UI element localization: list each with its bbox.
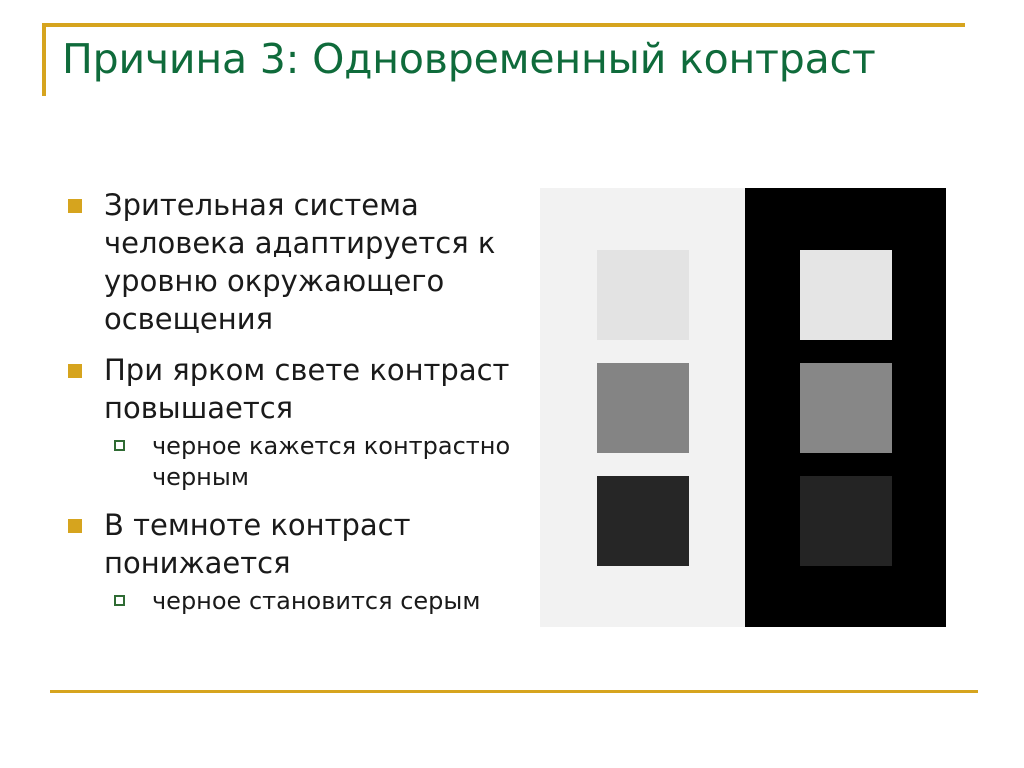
light-patch-on-dark	[800, 250, 892, 340]
simultaneous-contrast-figure	[540, 188, 946, 627]
sub-bullet-text: черное кажется контрастно черным	[152, 432, 510, 491]
title-rule-top	[42, 23, 965, 27]
gold-square-bullet-icon	[68, 519, 82, 533]
green-hollow-square-bullet-icon	[114, 440, 125, 451]
bullet-list-container: Зрительная система человека адаптируется…	[60, 186, 520, 630]
mid-gray-patch-on-light	[597, 363, 689, 453]
bullet-text: При ярком свете контраст повышается	[104, 351, 520, 427]
list-item: В темноте контраст понижается черное ста…	[60, 506, 520, 617]
footer-rule	[50, 690, 978, 693]
dark-patch-on-light	[597, 476, 689, 566]
gold-square-bullet-icon	[68, 199, 82, 213]
dark-patch-on-dark	[800, 476, 892, 566]
page-title: Причина 3: Одновременный контраст	[62, 33, 962, 85]
slide: Причина 3: Одновременный контраст Зрител…	[0, 0, 1024, 768]
sub-list-item: черное кажется контрастно черным	[104, 431, 520, 493]
bullet-list-level2: черное кажется контрастно черным	[104, 431, 520, 493]
sub-bullet-text: черное становится серым	[152, 587, 480, 615]
green-hollow-square-bullet-icon	[114, 595, 125, 606]
bullet-list-level2: черное становится серым	[104, 586, 520, 617]
list-item: При ярком свете контраст повышается черн…	[60, 351, 520, 493]
dark-surround-panel	[745, 188, 946, 627]
list-item: Зрительная система человека адаптируется…	[60, 186, 520, 338]
title-rule-left	[42, 23, 46, 96]
bullet-text: В темноте контраст понижается	[104, 506, 520, 582]
sub-list-item: черное становится серым	[104, 586, 520, 617]
light-surround-panel	[540, 188, 745, 627]
bullet-list-level1: Зрительная система человека адаптируется…	[60, 186, 520, 617]
light-patch-on-light	[597, 250, 689, 340]
gold-square-bullet-icon	[68, 364, 82, 378]
mid-gray-patch-on-dark	[800, 363, 892, 453]
bullet-text: Зрительная система человека адаптируется…	[104, 186, 520, 338]
